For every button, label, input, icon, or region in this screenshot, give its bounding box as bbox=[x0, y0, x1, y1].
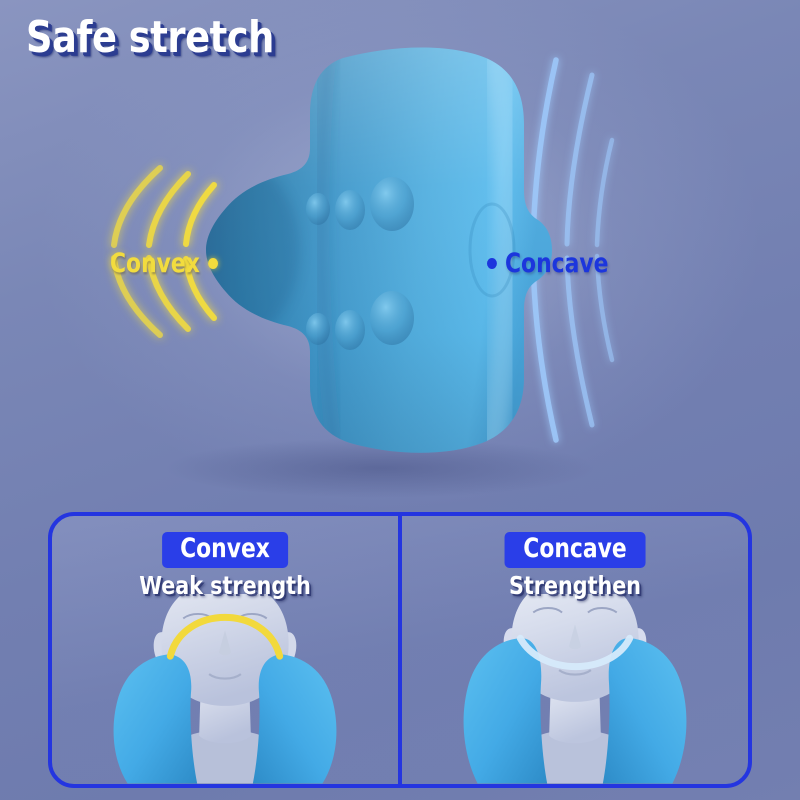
callout-convex: Convex bbox=[110, 250, 218, 277]
pillow-wing-right bbox=[603, 638, 687, 783]
badge-convex: Convex bbox=[162, 532, 288, 568]
comparison-panels: Convex Weak strength bbox=[48, 512, 752, 788]
callout-concave: Concave bbox=[487, 250, 608, 277]
subtitle-convex: Weak strength bbox=[132, 572, 319, 600]
mannequin-head-icon bbox=[402, 594, 748, 784]
subtitle-convex-label: Weak strength bbox=[139, 572, 311, 600]
subtitle-concave: Strengthen bbox=[503, 572, 646, 600]
bullet-dot-icon bbox=[487, 258, 497, 269]
callout-concave-label: Concave bbox=[505, 250, 608, 277]
badge-concave-label: Concave bbox=[523, 535, 626, 563]
pillow-wing-left bbox=[114, 654, 198, 783]
badge-concave: Concave bbox=[505, 532, 646, 568]
bullet-dot-icon bbox=[208, 258, 218, 269]
subtitle-concave-label: Strengthen bbox=[509, 572, 641, 600]
page-title: Safe stretch bbox=[26, 16, 274, 60]
panel-convex: Convex Weak strength bbox=[52, 516, 402, 784]
mannequin-head-icon bbox=[52, 594, 398, 784]
callout-convex-label: Convex bbox=[110, 250, 200, 277]
pillow-wing-left bbox=[464, 638, 548, 783]
badge-convex-label: Convex bbox=[180, 535, 270, 563]
panel-concave: Concave Strengthen bbox=[402, 516, 748, 784]
pillow-wing-right bbox=[253, 654, 337, 783]
product-poster: Convex Concave Convex Weak strength bbox=[0, 0, 800, 800]
hero-illustration: Convex Concave bbox=[0, 0, 800, 500]
